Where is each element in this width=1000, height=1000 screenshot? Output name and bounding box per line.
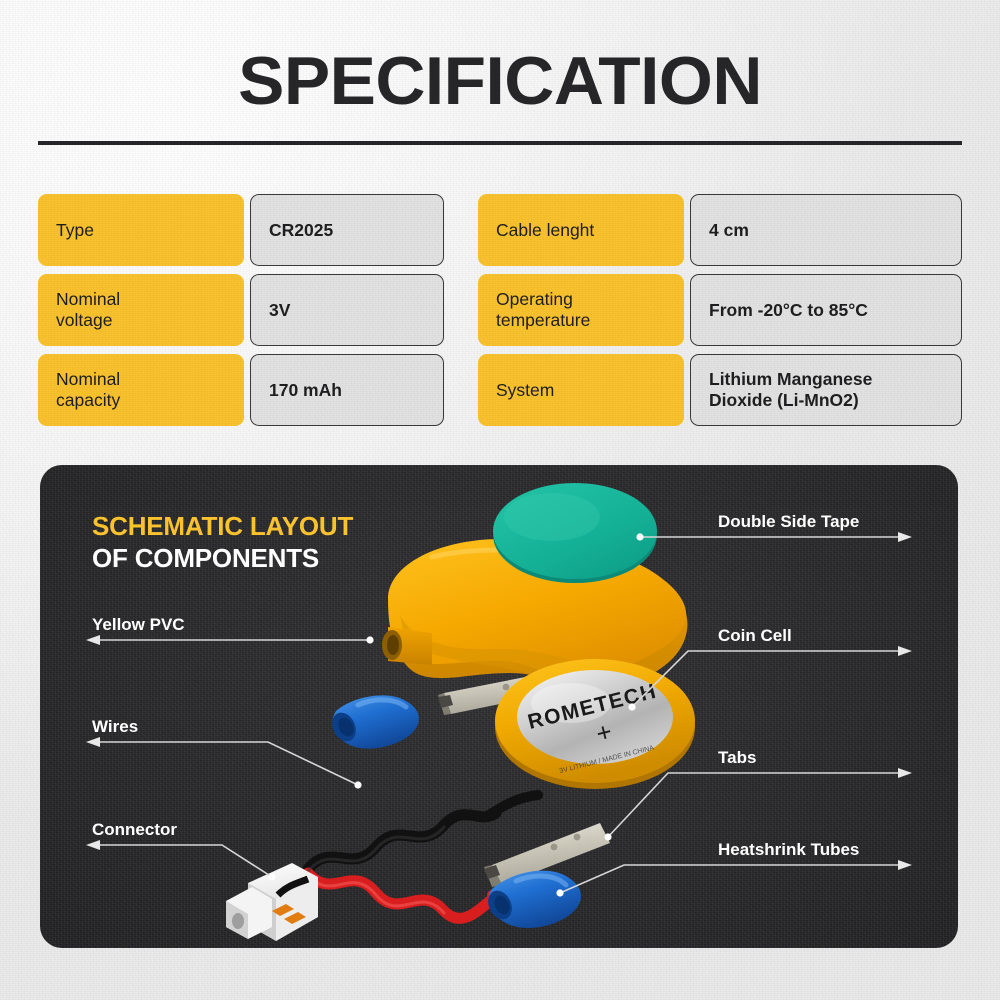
spec-value-system: Lithium Manganese Dioxide (Li-MnO2) xyxy=(690,354,962,426)
spec-value-nominal-capacity-line1: 170 mAh xyxy=(269,380,342,400)
specification-table: Type CR2025 Cable lenght 4 cm Nominal xyxy=(38,194,962,426)
spec-value-system-line2: Dioxide (Li-MnO2) xyxy=(709,390,872,411)
callout-label-tabs: Tabs xyxy=(718,748,756,768)
callout-label-coin-cell: Coin Cell xyxy=(718,626,792,646)
column-gap xyxy=(444,194,478,266)
spec-value-cable-lenght-line1: 4 cm xyxy=(709,220,749,240)
callout-label-heatshrink-tubes: Heatshrink Tubes xyxy=(718,840,859,860)
double-side-tape-part xyxy=(493,483,657,583)
spec-label-nominal-capacity-line2: capacity xyxy=(56,390,120,411)
spec-label-type-line1: Type xyxy=(56,220,94,240)
schematic-layout-panel: ROMETECH + 3V LITHIUM / MADE IN CHINA xyxy=(40,465,958,948)
spec-label-type: Type xyxy=(38,194,244,266)
spec-label-nominal-voltage-line1: Nominal xyxy=(56,289,120,309)
spec-label-operating-temperature-line2: temperature xyxy=(496,310,590,331)
coin-cell-part: ROMETECH + 3V LITHIUM / MADE IN CHINA xyxy=(495,659,695,789)
spec-value-type: CR2025 xyxy=(250,194,444,266)
spec-label-system-line1: System xyxy=(496,380,554,400)
column-gap xyxy=(444,274,478,346)
spec-value-system-line1: Lithium Manganese xyxy=(709,369,872,389)
panel-heading: SCHEMATIC LAYOUT OF COMPONENTS xyxy=(92,510,353,574)
specification-infographic: SPECIFICATION Type CR2025 Cable lenght 4… xyxy=(0,0,1000,1000)
spec-label-nominal-capacity-line1: Nominal xyxy=(56,369,120,389)
heatshrink-tube-upper xyxy=(328,695,419,748)
connector-part xyxy=(226,863,318,941)
spec-label-nominal-capacity: Nominal capacity xyxy=(38,354,244,426)
spec-value-nominal-voltage-line1: 3V xyxy=(269,300,290,320)
spec-value-operating-temperature-line1: From -20°C to 85°C xyxy=(709,300,868,320)
spec-value-cable-lenght: 4 cm xyxy=(690,194,962,266)
panel-heading-line1: SCHEMATIC LAYOUT xyxy=(92,510,353,542)
spec-label-nominal-voltage: Nominal voltage xyxy=(38,274,244,346)
spec-value-type-line1: CR2025 xyxy=(269,220,333,240)
spec-label-operating-temperature: Operating temperature xyxy=(478,274,684,346)
spec-value-nominal-voltage: 3V xyxy=(250,274,444,346)
callout-label-connector: Connector xyxy=(92,820,177,840)
callout-label-wires: Wires xyxy=(92,717,138,737)
spec-value-nominal-capacity: 170 mAh xyxy=(250,354,444,426)
spec-label-cable-lenght-line1: Cable lenght xyxy=(496,220,594,240)
spec-label-operating-temperature-line1: Operating xyxy=(496,289,573,309)
page-title: SPECIFICATION xyxy=(0,44,1000,118)
spec-label-nominal-voltage-line2: voltage xyxy=(56,310,120,331)
spec-label-system: System xyxy=(478,354,684,426)
column-gap xyxy=(444,354,478,426)
callout-label-double-side-tape: Double Side Tape xyxy=(718,512,859,532)
panel-heading-line2: OF COMPONENTS xyxy=(92,542,353,574)
title-divider xyxy=(38,141,962,145)
callout-label-yellow-pvc: Yellow PVC xyxy=(92,615,185,635)
spec-value-operating-temperature: From -20°C to 85°C xyxy=(690,274,962,346)
spec-label-cable-lenght: Cable lenght xyxy=(478,194,684,266)
